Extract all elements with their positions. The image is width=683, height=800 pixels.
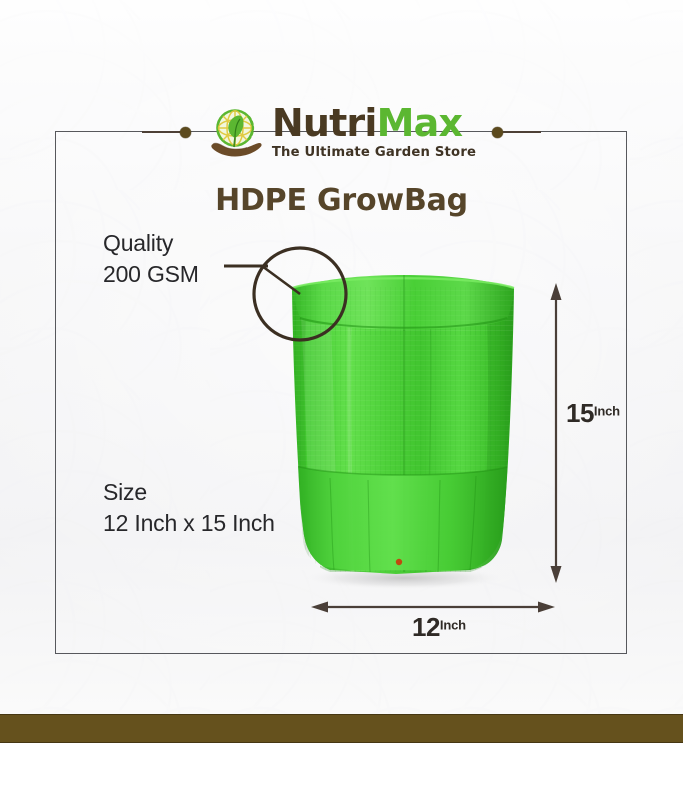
brand-header: Nutri Max The Ultimate Garden Store (0, 96, 683, 168)
brand-name-row: Nutri Max (272, 104, 462, 142)
decorative-flourish-right-icon (492, 127, 541, 138)
brand-name-part-two: Max (377, 104, 463, 142)
poster-canvas: Nutri Max The Ultimate Garden Store HDPE… (0, 0, 683, 714)
height-dimension-unit: Inch (594, 404, 620, 419)
brand-tagline: The Ultimate Garden Store (272, 146, 476, 159)
size-value: 12 Inch x 15 Inch (103, 508, 275, 539)
width-dimension-number: 12 (412, 612, 440, 642)
size-annotation: Size 12 Inch x 15 Inch (103, 477, 275, 540)
leaf-globe-in-hand-icon (207, 104, 263, 160)
quality-annotation: Quality 200 GSM (103, 228, 199, 289)
quality-value: 200 GSM (103, 259, 199, 290)
width-dimension-unit: Inch (440, 618, 466, 633)
size-label: Size (103, 477, 275, 508)
quality-label: Quality (103, 228, 199, 259)
brand-name-part-one: Nutri (272, 104, 377, 142)
footer-bar (0, 714, 683, 743)
height-dimension-label: 15Inch (566, 398, 620, 429)
decorative-flourish-left-icon (142, 127, 191, 138)
brand-logo: Nutri Max The Ultimate Garden Store (207, 104, 476, 160)
footer-whitespace (0, 743, 683, 800)
height-dimension-number: 15 (566, 398, 594, 428)
brand-wordmark: Nutri Max The Ultimate Garden Store (272, 104, 476, 159)
page-title: HDPE GrowBag (0, 183, 683, 218)
width-dimension-label: 12Inch (412, 612, 466, 643)
